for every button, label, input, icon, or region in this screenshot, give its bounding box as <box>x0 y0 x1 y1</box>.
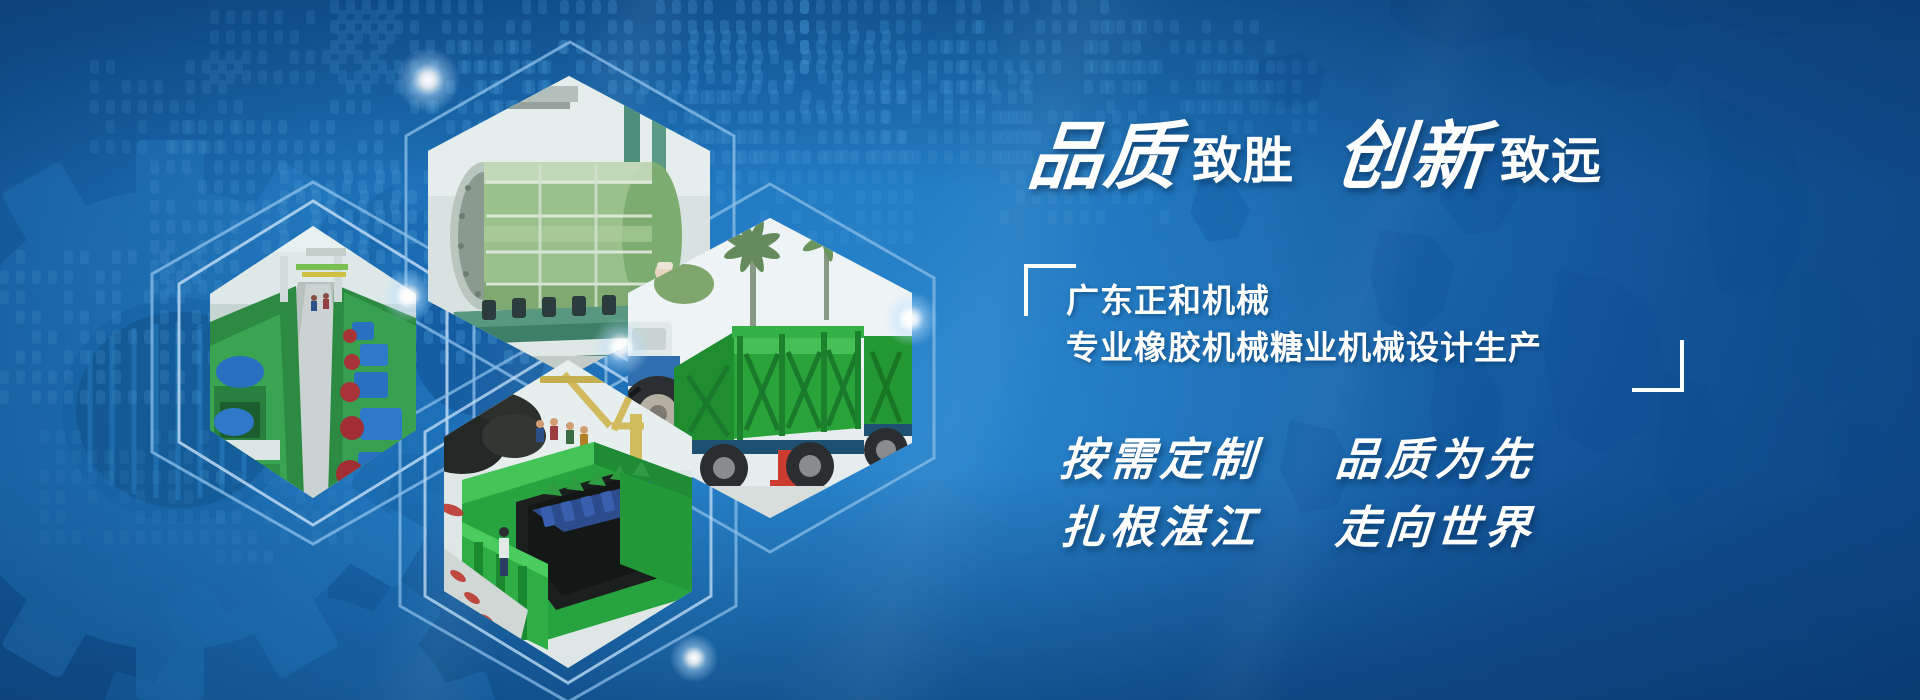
page-title: 品质 致胜 创新 致远 <box>1028 122 1602 192</box>
subtitle-line-1: 广东正和机械 <box>1066 278 1542 325</box>
slogan-1-left: 按需定制 <box>1058 433 1262 486</box>
slogan-row-1: 按需定制 品质为先 <box>1058 426 1538 494</box>
subtitle-lines: 广东正和机械 专业橡胶机械糖业机械设计生产 <box>1066 278 1542 372</box>
slogan-1-right: 品质为先 <box>1334 433 1538 486</box>
subtitle-block: 广东正和机械 专业橡胶机械糖业机械设计生产 <box>1024 264 1684 392</box>
corner-bracket-icon <box>1632 340 1684 392</box>
slogan-row-2: 扎根湛江 走向世界 <box>1058 494 1538 562</box>
banner-text-block: 品质 致胜 创新 致远 广东正和机械 专业橡胶机械糖业机械设计生产 按需定制 品… <box>1010 96 1890 616</box>
hexagon-photo-collage <box>200 30 880 650</box>
headline-plain-1: 致胜 <box>1192 136 1294 186</box>
headline-brush-2: 创新 <box>1333 122 1491 192</box>
slogan-block: 按需定制 品质为先 扎根湛江 走向世界 <box>1060 426 1535 563</box>
promo-banner: 品质 致胜 创新 致远 广东正和机械 专业橡胶机械糖业机械设计生产 按需定制 品… <box>0 0 1920 700</box>
headline-plain-2: 致远 <box>1500 136 1602 186</box>
headline-brush-1: 品质 <box>1025 122 1183 192</box>
slogan-2-left: 扎根湛江 <box>1058 501 1262 554</box>
subtitle-line-2: 专业橡胶机械糖业机械设计生产 <box>1066 325 1542 372</box>
slogan-2-right: 走向世界 <box>1334 501 1538 554</box>
